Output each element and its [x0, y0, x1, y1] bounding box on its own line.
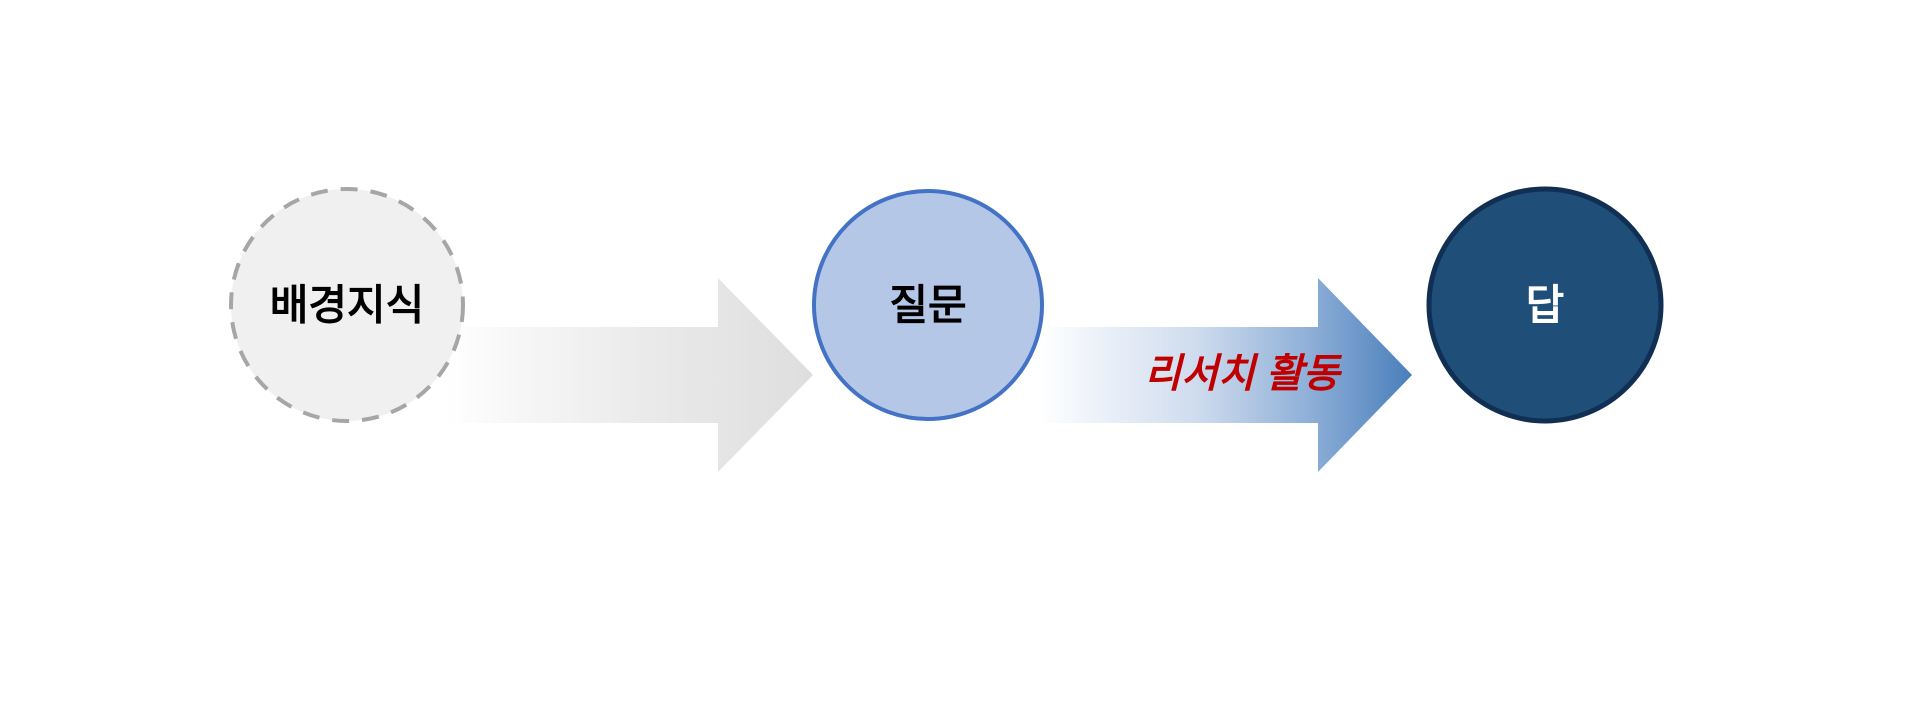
node-answer[interactable]: 답 — [1429, 189, 1661, 421]
diagram-canvas: 배경지식 질문 답 리서치 활동 — [0, 0, 1919, 728]
node-label-background-knowledge: 배경지식 — [270, 282, 425, 329]
connector-label-research-activity: 리서치 활동 — [1144, 352, 1342, 396]
process-flow-diagram: 배경지식 질문 답 리서치 활동 — [0, 0, 1919, 728]
node-label-answer: 답 — [1526, 282, 1565, 329]
node-background-knowledge[interactable]: 배경지식 — [231, 189, 463, 421]
connector-knowledge-to-question — [447, 278, 813, 472]
node-label-question: 질문 — [889, 282, 966, 329]
block-arrow-right-icon — [447, 278, 813, 472]
node-question[interactable]: 질문 — [814, 191, 1042, 419]
